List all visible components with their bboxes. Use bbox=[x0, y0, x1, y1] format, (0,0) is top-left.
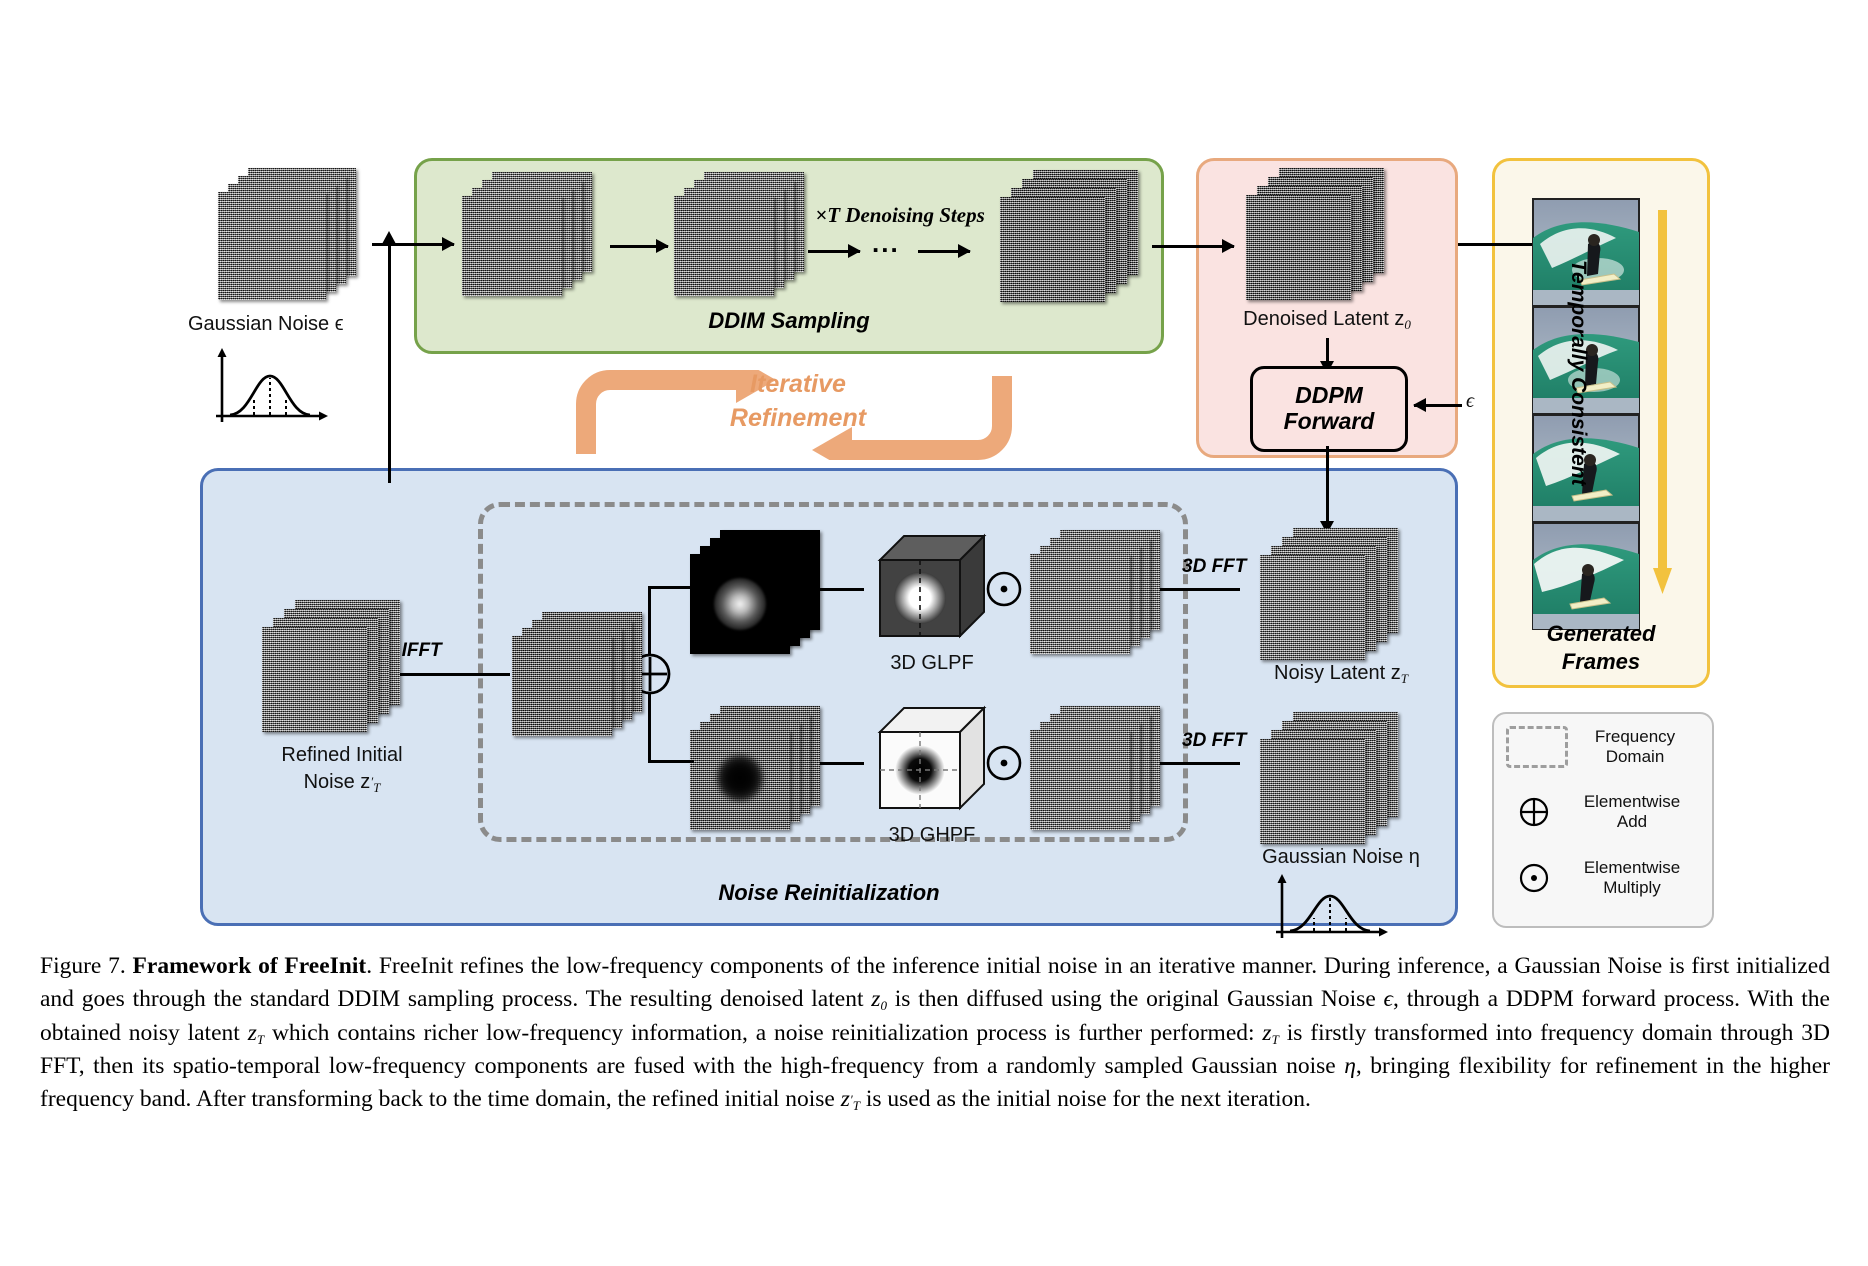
stack-ddim-step-1 bbox=[462, 172, 612, 310]
label-3d-glpf: 3D GLPF bbox=[852, 652, 1012, 675]
label-noisy-latent: Noisy Latent zT bbox=[1226, 662, 1456, 687]
caption-math-3: z bbox=[248, 1020, 257, 1046]
label-denoising-steps: ×T Denoising Steps bbox=[800, 203, 1000, 228]
caption-math-3-sub: T bbox=[257, 1032, 264, 1047]
stack-fused-frequency bbox=[512, 612, 662, 752]
legend-freq-line1: Frequency bbox=[1568, 727, 1702, 747]
gaussian-noise-epsilon-text: Gaussian Noise ϵ bbox=[188, 313, 344, 335]
iterative-line1: Iterative bbox=[700, 368, 896, 402]
label-gaussian-noise-eta: Gaussian Noise η bbox=[1226, 846, 1456, 869]
denoised-latent-text: Denoised Latent z bbox=[1243, 308, 1404, 330]
legend-mul-line1: Elementwise bbox=[1562, 858, 1702, 878]
arrow-feedback-up bbox=[388, 243, 391, 483]
stack-noisy-latent bbox=[1260, 528, 1420, 668]
3d-glpf-cube-icon bbox=[872, 528, 990, 646]
circle-dot-icon bbox=[1519, 863, 1549, 893]
3d-ghpf-cube-icon bbox=[872, 700, 990, 818]
circle-dot-icon-top bbox=[985, 570, 1023, 608]
label-temporally-consistent: Temporally Consistent bbox=[1566, 260, 1590, 520]
arrow-latent-to-ddpm-box bbox=[1326, 338, 1329, 362]
label-refined-initial-noise: Refined Initial Noise z′T bbox=[222, 742, 462, 797]
caption-body-7: is used as the initial noise for the nex… bbox=[860, 1086, 1311, 1112]
refined-line2: Noise z bbox=[304, 771, 371, 793]
iterative-line2: Refinement bbox=[700, 402, 896, 436]
gaussian-curve-icon-2 bbox=[1270, 872, 1390, 944]
arrow-ddim-1-to-2 bbox=[610, 245, 668, 248]
generated-frames-caption: Generated Frames bbox=[1492, 620, 1710, 675]
label-3d-fft-top: 3D FFT bbox=[1182, 556, 1246, 578]
caption-body-2: is then diffused using the original Gaus… bbox=[887, 986, 1384, 1012]
arrow-steps-left bbox=[808, 250, 860, 253]
legend-add-line2: Add bbox=[1562, 812, 1702, 832]
stack-freq-noisy-latent bbox=[1030, 530, 1180, 670]
label-gaussian-noise-epsilon: Gaussian Noise ϵ bbox=[188, 313, 344, 336]
stack-ddim-final bbox=[1000, 170, 1160, 315]
ddpm-forward-line2: Forward bbox=[1284, 409, 1375, 435]
noisy-latent-subscript: T bbox=[1401, 671, 1408, 686]
stack-lowfreq-spectrum bbox=[690, 530, 830, 670]
refined-subscript: T bbox=[373, 780, 380, 795]
stack-ddim-step-2 bbox=[674, 172, 824, 310]
generated-frames-line1: Generated bbox=[1492, 620, 1710, 648]
caption-number: Figure 7. bbox=[40, 953, 126, 979]
caption-math-6-sub: T bbox=[853, 1098, 860, 1113]
stack-gaussian-noise-eta bbox=[1260, 712, 1420, 852]
refined-line1: Refined Initial bbox=[222, 742, 462, 769]
figure-caption: Figure 7. Framework of FreeInit. FreeIni… bbox=[40, 950, 1830, 1117]
iterative-refinement-label: Iterative Refinement bbox=[700, 368, 896, 436]
legend-freq-line2: Domain bbox=[1568, 747, 1702, 767]
circle-plus-icon bbox=[1519, 797, 1549, 827]
legend-multiply-text: Elementwise Multiply bbox=[1562, 858, 1702, 897]
stack-freq-gaussian-eta bbox=[1030, 706, 1180, 846]
legend-item-elementwise-multiply: Elementwise Multiply bbox=[1506, 858, 1702, 897]
caption-title: Framework of FreeInit bbox=[133, 953, 367, 979]
dashed-rect-icon bbox=[1506, 726, 1568, 768]
label-denoised-latent: Denoised Latent z0 bbox=[1196, 308, 1458, 333]
arrow-steps-right bbox=[918, 250, 970, 253]
caption-body-4: which contains richer low-frequency info… bbox=[264, 1020, 1262, 1046]
refined-line2-wrap: Noise z′T bbox=[222, 769, 462, 797]
stack-denoised-latent bbox=[1246, 168, 1406, 313]
arrow-epsilon-into-ddpm bbox=[1414, 404, 1462, 407]
caption-math-4-sub: T bbox=[1272, 1032, 1279, 1047]
stack-highfreq-spectrum bbox=[690, 706, 830, 846]
legend-frequency-domain-text: Frequency Domain bbox=[1568, 727, 1702, 766]
label-3d-ghpf: 3D GHPF bbox=[852, 824, 1012, 847]
legend-add-text: Elementwise Add bbox=[1562, 792, 1702, 831]
caption-math-4: z bbox=[1262, 1020, 1271, 1046]
temporal-direction-arrow bbox=[1652, 210, 1674, 600]
stack-refined-initial-noise bbox=[262, 600, 422, 745]
ddpm-forward-line1: DDPM bbox=[1295, 383, 1363, 409]
arrow-ddim-to-ddpm bbox=[1152, 245, 1234, 248]
label-3d-fft-bottom: 3D FFT bbox=[1182, 730, 1246, 752]
caption-math-2: ϵ bbox=[1384, 986, 1393, 1012]
gaussian-curve-icon-1 bbox=[210, 348, 330, 428]
connector-bottom-horizontal bbox=[648, 760, 694, 763]
legend-item-elementwise-add: Elementwise Add bbox=[1506, 792, 1702, 831]
ddpm-forward-box: DDPM Forward bbox=[1250, 366, 1408, 452]
caption-math-5: η bbox=[1344, 1053, 1356, 1079]
legend-box: Frequency Domain Elementwise Add bbox=[1492, 712, 1714, 928]
generated-frames-line2: Frames bbox=[1492, 648, 1710, 676]
noisy-latent-text: Noisy Latent z bbox=[1274, 662, 1401, 684]
arrow-ddpm-to-noisy-latent bbox=[1326, 446, 1329, 522]
connector-top-horizontal bbox=[648, 586, 694, 589]
legend-item-frequency-domain: Frequency Domain bbox=[1506, 726, 1702, 768]
circle-dot-icon-bottom bbox=[985, 744, 1023, 782]
legend-add-line1: Elementwise bbox=[1562, 792, 1702, 812]
label-epsilon-ddpm: ϵ bbox=[1466, 390, 1474, 413]
legend-mul-line2: Multiply bbox=[1562, 878, 1702, 898]
denoised-latent-subscript: 0 bbox=[1404, 317, 1411, 332]
stack-gaussian-noise-input bbox=[218, 168, 368, 306]
caption-math-6: z bbox=[841, 1086, 850, 1112]
label-ellipsis: ... bbox=[872, 228, 900, 259]
